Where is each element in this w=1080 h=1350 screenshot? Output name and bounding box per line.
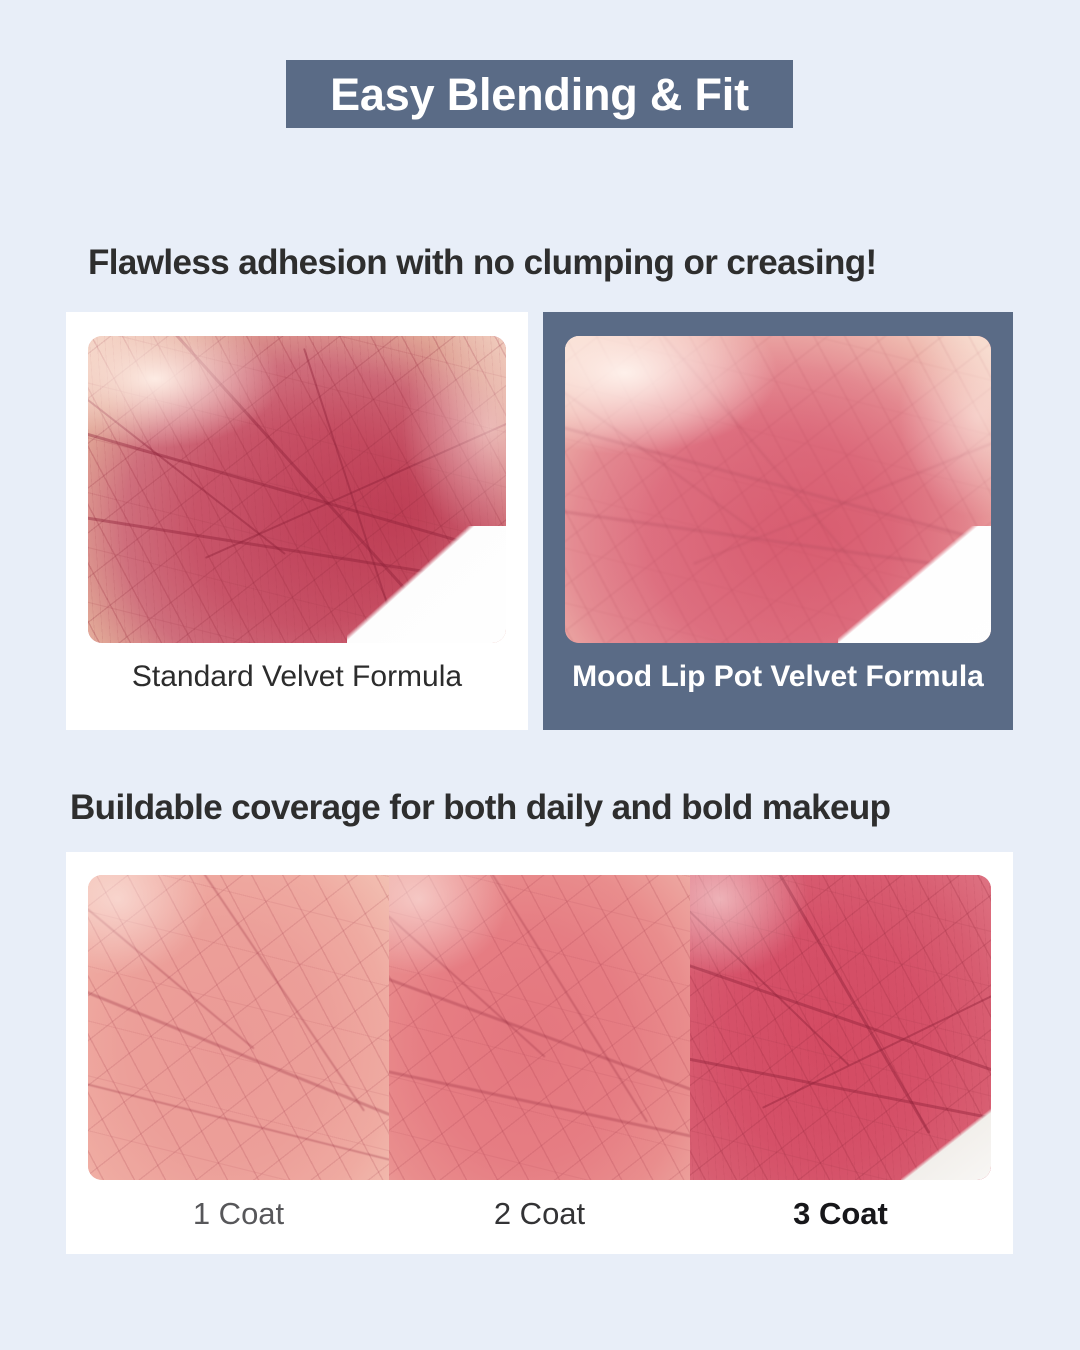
coat-label-row: 1 Coat 2 Coat 3 Coat [88, 1197, 991, 1231]
one-coat-swatch-photo [88, 875, 389, 1180]
swatch-highlight [389, 875, 690, 1180]
swatch-highlight [88, 875, 389, 1180]
coat-label-two: 2 Coat [389, 1197, 690, 1231]
comparison-panel-standard: Standard Velvet Formula [66, 312, 528, 730]
adhesion-headline: Flawless adhesion with no clumping or cr… [88, 243, 877, 283]
three-coat-swatch-photo [690, 875, 991, 1180]
swatch-paper-corner [838, 526, 991, 643]
coat-comparison-panel: 1 Coat 2 Coat 3 Coat [66, 852, 1013, 1254]
swatch-paper-corner [901, 1082, 991, 1180]
swatch-paper-corner [347, 526, 506, 643]
comparison-caption-mood: Mood Lip Pot Velvet Formula [543, 660, 1013, 693]
standard-velvet-swatch-photo [88, 336, 506, 643]
coat-photo-row [88, 875, 991, 1180]
header-banner: Easy Blending & Fit [286, 60, 793, 128]
header-banner-title: Easy Blending & Fit [330, 72, 749, 117]
mood-lip-pot-velvet-swatch-photo [565, 336, 991, 643]
comparison-caption-standard: Standard Velvet Formula [66, 660, 528, 693]
two-coat-swatch-photo [389, 875, 690, 1180]
coat-label-one: 1 Coat [88, 1197, 389, 1231]
infographic-page: Easy Blending & Fit Flawless adhesion wi… [0, 0, 1080, 1350]
coat-label-three: 3 Coat [690, 1197, 991, 1231]
buildable-headline: Buildable coverage for both daily and bo… [70, 788, 890, 828]
comparison-panel-mood: Mood Lip Pot Velvet Formula [543, 312, 1013, 730]
